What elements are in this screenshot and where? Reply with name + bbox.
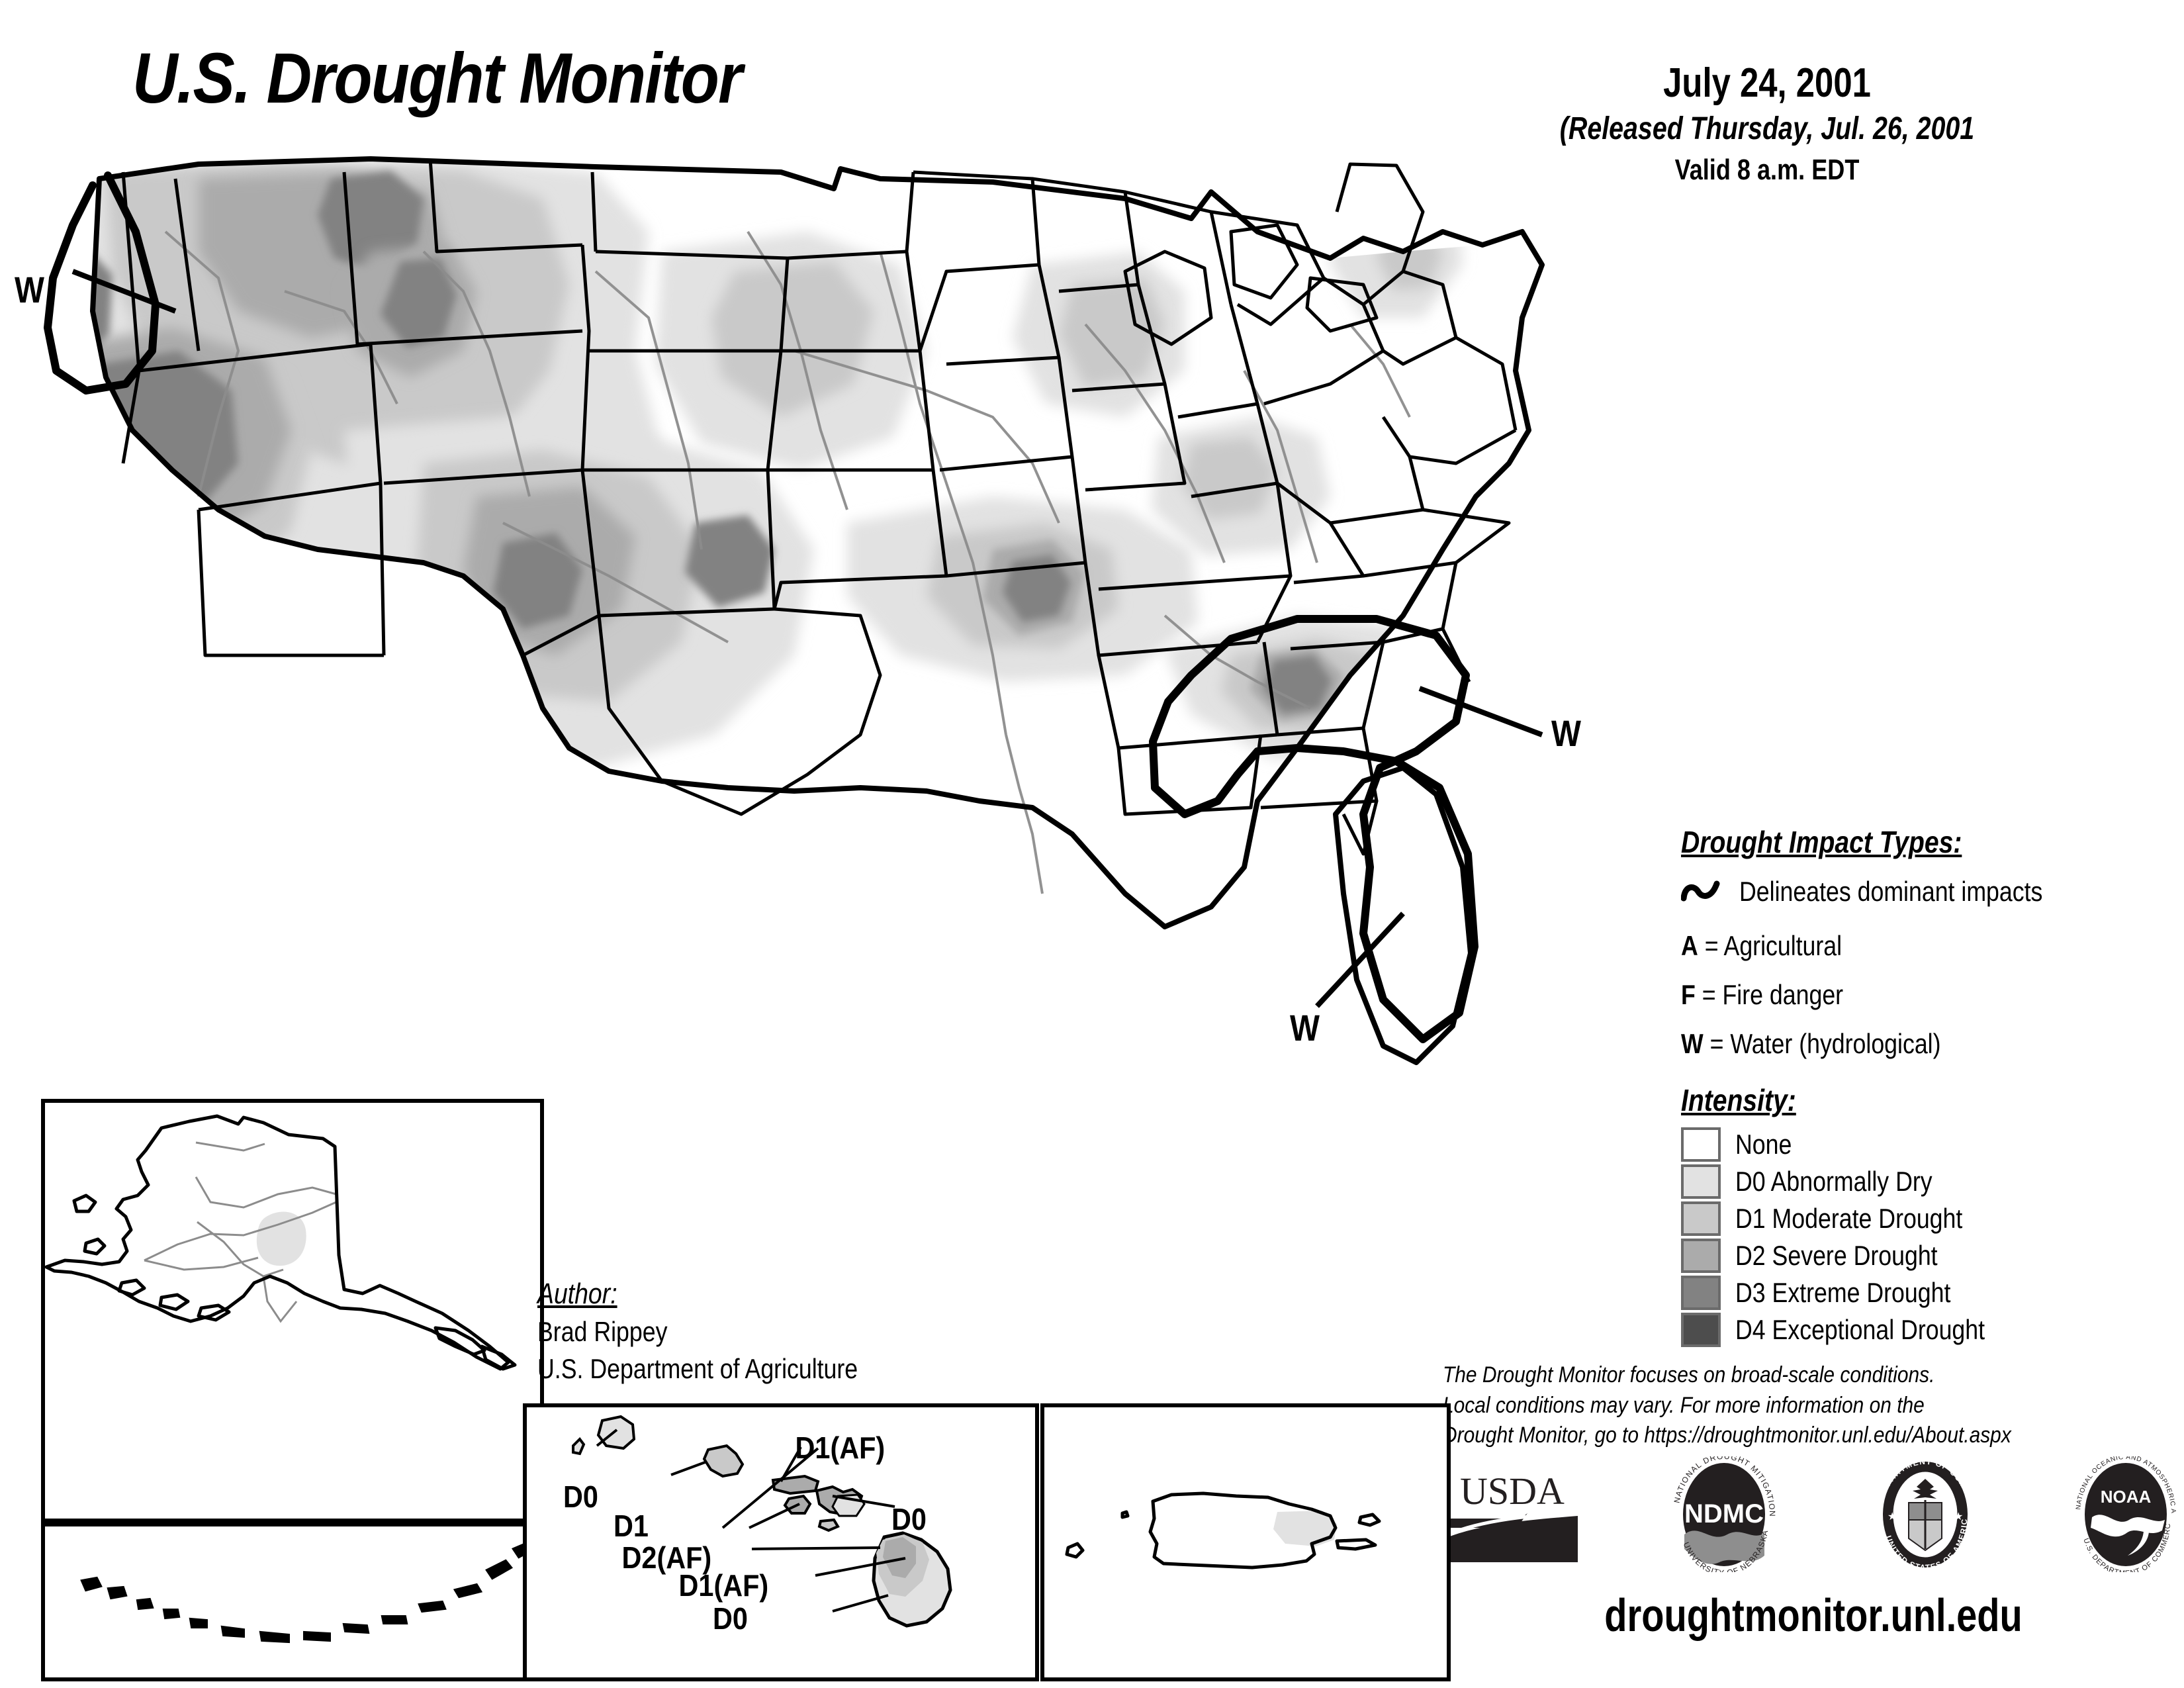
disclaimer-line-2: Local conditions may vary. For more info…: [1443, 1391, 2095, 1421]
hawaii-label-d0-kauai: D0: [563, 1479, 598, 1515]
intensity-item-d4: D4 Exceptional Drought: [1681, 1313, 2184, 1347]
alaska-map: [45, 1103, 540, 1519]
page-title: U.S. Drought Monitor: [132, 36, 741, 119]
svg-text:USDA: USDA: [1460, 1470, 1565, 1513]
impact-code-a: A: [1681, 930, 1698, 961]
hawaii-label-d1af-bigisland: D1(AF): [679, 1568, 769, 1603]
conus-drought-map[interactable]: W W W: [0, 152, 1668, 1185]
alaska-inset-panel[interactable]: [41, 1099, 544, 1523]
intensity-heading: Intensity:: [1681, 1082, 1796, 1118]
hawaii-label-d0-bigisland: D0: [713, 1601, 748, 1636]
usda-logo[interactable]: USDA: [1443, 1463, 1582, 1566]
hawaii-label-d0-maui: D0: [891, 1501, 927, 1537]
squiggle-icon: [1681, 878, 1722, 905]
intensity-item-d0: D0 Abnormally Dry: [1681, 1164, 2184, 1199]
impact-sep-w: =: [1704, 1028, 1731, 1059]
intensity-item-d3: D3 Extreme Drought: [1681, 1276, 2184, 1310]
swatch-d3: [1681, 1276, 1721, 1310]
swatch-d0: [1681, 1164, 1721, 1199]
intensity-label-d3: D3 Extreme Drought: [1735, 1277, 1950, 1309]
noaa-logo[interactable]: NOAA NATIONAL OCEANIC AND ATMOSPHERIC AD…: [2068, 1456, 2184, 1572]
website-url[interactable]: droughtmonitor.unl.edu: [1517, 1589, 2110, 1642]
delineates-label: Delineates dominant impacts: [1739, 876, 2042, 908]
disclaimer-line-1: The Drought Monitor focuses on broad-sca…: [1443, 1360, 2095, 1391]
svg-text:NOAA: NOAA: [2101, 1487, 2152, 1507]
swatch-d4: [1681, 1313, 1721, 1347]
impact-label-w-southeast: W: [1551, 712, 1581, 755]
puerto-rico-map: [1044, 1407, 1447, 1677]
intensity-item-none: None: [1681, 1127, 2184, 1162]
disclaimer-block: The Drought Monitor focuses on broad-sca…: [1443, 1360, 2095, 1451]
impact-sep-a: =: [1698, 930, 1724, 961]
hawaii-label-d1-oahu: D1: [614, 1508, 649, 1544]
legend-panel: Drought Impact Types: Delineates dominan…: [1681, 824, 2184, 1347]
impact-code-f: F: [1681, 979, 1696, 1010]
release-date: (Released Thursday, Jul. 26, 2001: [1555, 111, 1979, 147]
svg-text:NDMC: NDMC: [1684, 1499, 1764, 1528]
hawaii-inset-panel[interactable]: D0 D1 D1(AF) D0 D2(AF) D1(AF) D0: [523, 1403, 1039, 1681]
intensity-item-d1: D1 Moderate Drought: [1681, 1201, 2184, 1236]
intensity-label-none: None: [1735, 1129, 1792, 1160]
author-name: Brad Rippey: [537, 1316, 931, 1348]
impact-type-w: W = Water (hydrological): [1681, 1028, 2184, 1060]
swatch-none: [1681, 1127, 1721, 1162]
swatch-d2: [1681, 1239, 1721, 1273]
puerto-rico-inset-panel[interactable]: [1040, 1403, 1451, 1681]
intensity-item-d2: D2 Severe Drought: [1681, 1239, 2184, 1273]
impact-label-w-northwest: W: [15, 268, 44, 311]
doc-logo[interactable]: DEPARTMENT OF COMMERCE UNITED STATES OF …: [1868, 1456, 1983, 1572]
svg-text:★: ★: [1888, 1511, 1897, 1523]
impact-sep-f: =: [1696, 979, 1723, 1010]
aleutian-inset-panel[interactable]: [41, 1523, 544, 1681]
swatch-d1: [1681, 1201, 1721, 1236]
intensity-label-d2: D2 Severe Drought: [1735, 1240, 1938, 1272]
author-affiliation: U.S. Department of Agriculture: [537, 1353, 931, 1385]
delineates-row: Delineates dominant impacts: [1681, 876, 2184, 908]
aleutian-map: [45, 1526, 540, 1677]
hawaii-label-d1af-molokai: D1(AF): [796, 1430, 886, 1466]
impact-code-w: W: [1681, 1028, 1704, 1059]
impact-label-f: Fire danger: [1723, 979, 1844, 1010]
author-block: Author: Brad Rippey U.S. Department of A…: [537, 1278, 1001, 1385]
author-heading: Author:: [537, 1278, 617, 1311]
agency-logos: USDA NDMC NATIONAL DROUGHT MITIGATION CE…: [1443, 1456, 2184, 1572]
svg-text:★: ★: [1954, 1511, 1963, 1523]
intensity-label-d4: D4 Exceptional Drought: [1735, 1314, 1985, 1346]
intensity-label-d1: D1 Moderate Drought: [1735, 1203, 1962, 1235]
ndmc-logo[interactable]: NDMC NATIONAL DROUGHT MITIGATION CENTER …: [1666, 1456, 1782, 1572]
impact-label-a: Agricultural: [1724, 930, 1843, 961]
map-date: July 24, 2001: [1555, 60, 1979, 107]
impact-type-a: A = Agricultural: [1681, 930, 2184, 962]
impact-type-f: F = Fire danger: [1681, 979, 2184, 1011]
impact-label-w: Water (hydrological): [1730, 1028, 1940, 1059]
impact-label-w-florida: W: [1290, 1006, 1320, 1049]
disclaimer-line-3[interactable]: Drought Monitor, go to https://droughtmo…: [1443, 1421, 2095, 1451]
intensity-label-d0: D0 Abnormally Dry: [1735, 1166, 1933, 1197]
impact-types-heading: Drought Impact Types:: [1681, 824, 1962, 860]
conus-map-svg: [0, 152, 1668, 1185]
hawaii-map: [527, 1407, 1035, 1677]
